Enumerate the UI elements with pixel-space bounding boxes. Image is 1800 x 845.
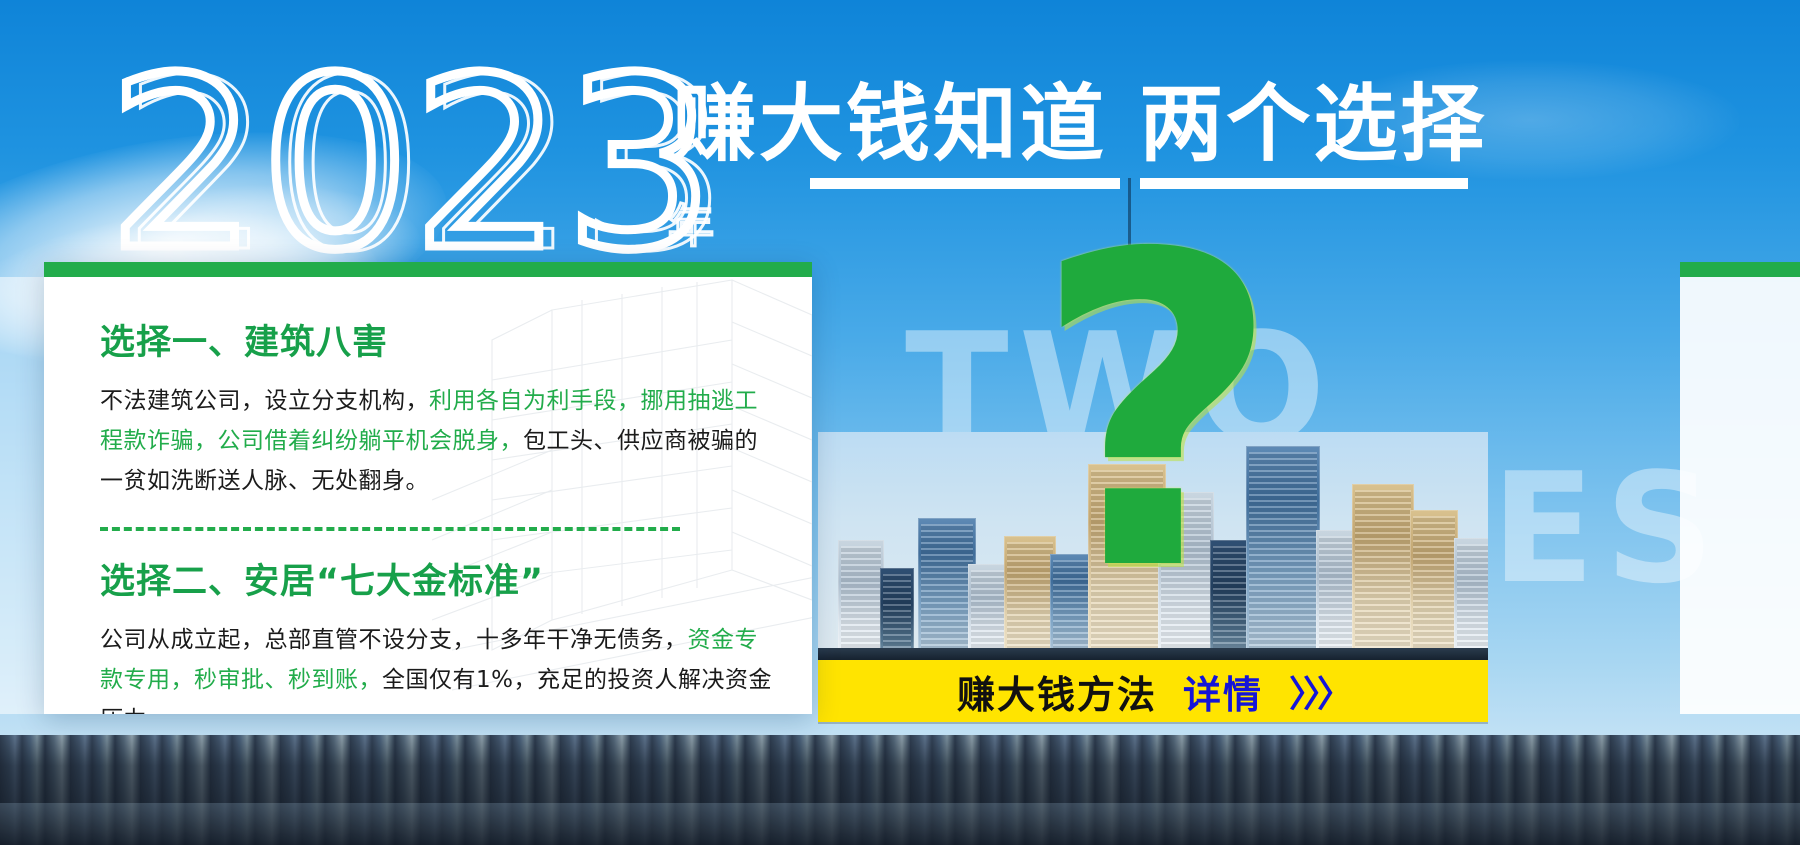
year-suffix-character: 年 bbox=[668, 190, 714, 256]
section-two-body-part-1: 公司从成立起，总部直管不设分支，十多年干净无债务， bbox=[100, 627, 688, 653]
section-one-body-part-1: 不法建筑公司，设立分支机构， bbox=[100, 388, 429, 414]
headline-title: 赚大钱知道 两个选择 bbox=[672, 76, 1487, 172]
info-card: 选择一、建筑八害 不法建筑公司，设立分支机构，利用各自为利手段，挪用抽逃工程款诈… bbox=[44, 262, 812, 714]
promo-banner: 2023 2023 年 赚大钱知道 两个选择 TWO CHOICES ? 赚大钱… bbox=[0, 0, 1800, 845]
card-right-green-strip bbox=[1680, 262, 1800, 277]
card-right-white-strip bbox=[1680, 277, 1800, 714]
chevron-right-icon: 〉〉〉 bbox=[1289, 665, 1349, 717]
year-number-outline: 2023 bbox=[108, 62, 728, 267]
info-card-content: 选择一、建筑八害 不法建筑公司，设立分支机构，利用各自为利手段，挪用抽逃工程款诈… bbox=[44, 262, 812, 714]
section-two-title: 选择二、安居“七大金标准” bbox=[100, 553, 774, 604]
cta-detail-label[interactable]: 详情 bbox=[1183, 664, 1263, 719]
year-number-ghost: 2023 bbox=[122, 64, 731, 269]
cta-button[interactable]: 赚大钱方法 详情 〉〉〉 bbox=[818, 660, 1488, 722]
cta-method-label: 赚大钱方法 bbox=[957, 664, 1157, 719]
card-left-edge-strip bbox=[0, 277, 46, 714]
section-one-title: 选择一、建筑八害 bbox=[100, 314, 774, 365]
question-mark-icon: ? bbox=[1032, 200, 1281, 630]
section-divider bbox=[100, 527, 680, 531]
section-two-body: 公司从成立起，总部直管不设分支，十多年干净无债务，资金专款专用，秒审批、秒到账，… bbox=[100, 620, 774, 714]
bottom-city-strip bbox=[0, 735, 1800, 845]
bottom-strip-reflection bbox=[0, 803, 1800, 845]
year-graphic: 2023 2023 年 bbox=[108, 62, 728, 272]
section-one-body: 不法建筑公司，设立分支机构，利用各自为利手段，挪用抽逃工程款诈骗，公司借着纠纷躺… bbox=[100, 381, 774, 501]
